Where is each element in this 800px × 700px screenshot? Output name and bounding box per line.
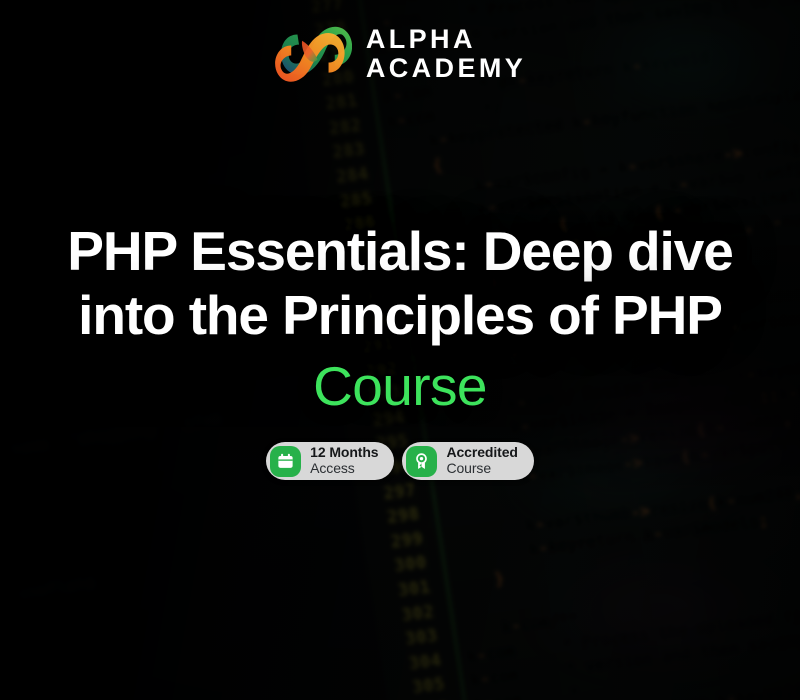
calendar-icon — [270, 446, 301, 477]
badge-accreditation-text: Accredited Course — [446, 445, 517, 476]
badge-accreditation: Accredited Course — [402, 442, 533, 480]
badge-accreditation-subtitle: Course — [446, 461, 517, 477]
infinity-loop-logo-icon — [274, 19, 352, 89]
badge-access-text: 12 Months Access — [310, 445, 378, 476]
hero-text-block: PHP Essentials: Deep dive into the Princ… — [20, 220, 780, 416]
badge-access-title: 12 Months — [310, 445, 378, 461]
course-promo-banner: 2742752762772782792802812822832842852862… — [0, 0, 800, 700]
badge-access-duration: 12 Months Access — [266, 442, 394, 480]
brand-logo: ALPHA ACADEMY — [274, 16, 526, 92]
brand-line-1: ALPHA — [366, 25, 526, 54]
feature-badges: 12 Months Access Accredited Course — [266, 442, 534, 480]
badge-access-subtitle: Access — [310, 461, 378, 477]
badge-accreditation-title: Accredited — [446, 445, 517, 461]
brand-line-2: ACADEMY — [366, 54, 526, 83]
award-ribbon-icon — [406, 446, 437, 477]
course-subtitle: Course — [20, 356, 780, 417]
course-title: PHP Essentials: Deep dive into the Princ… — [20, 220, 780, 348]
brand-wordmark: ALPHA ACADEMY — [366, 25, 526, 83]
banner-content: ALPHA ACADEMY PHP Essentials: Deep dive … — [0, 0, 800, 700]
